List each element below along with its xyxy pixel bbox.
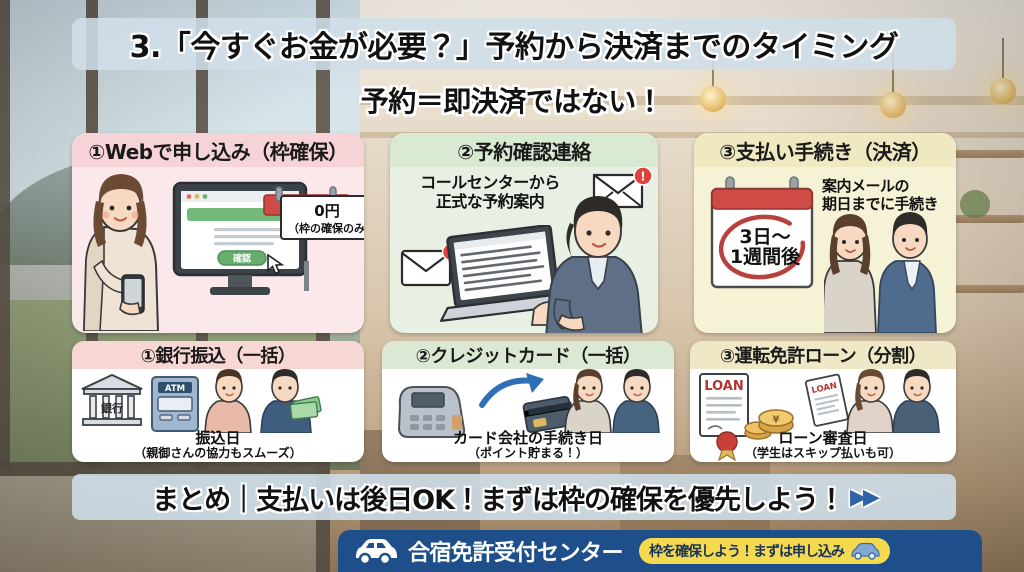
method-2-caption: カード会社の手続き日 （ポイント貯まる！） — [382, 430, 674, 460]
cta-text: 枠を確保しよう！まずは申し込み — [649, 541, 844, 561]
loan-document-label: LOAN — [704, 379, 743, 394]
step-panel-2: ②予約確認連絡 コールセンターから 正式な予約案内 ! ! — [390, 133, 658, 333]
step-1-heading: ①Webで申し込み（枠確保） — [72, 133, 364, 167]
brand-name: 合宿免許受付センター — [408, 535, 623, 567]
method-3-body: LOAN ¥ — [690, 369, 956, 462]
bank-label: 銀行 — [100, 401, 123, 415]
person-icon — [892, 369, 950, 433]
bank-icon: 銀行 — [78, 371, 148, 429]
infographic-slide: 3.「今すぐお金が必要？」予約から決済までのタイミング 予約＝即決済ではない！ … — [0, 0, 1024, 572]
atm-icon: ATM — [144, 373, 206, 435]
calendar-duration-text: 3日〜 1週間後 — [704, 228, 826, 268]
page-title: 3.「今すぐお金が必要？」予約から決済までのタイミング — [130, 22, 899, 66]
method-1-body: 銀行 ATM — [72, 369, 364, 462]
method-3-caption: ローン審査日 （学生はスキップ払いも可） — [690, 430, 956, 460]
svg-text:!: ! — [640, 170, 645, 184]
method-panel-1: ①銀行振込（一括） 銀行 ATM — [72, 341, 364, 462]
price-callout: 0円 （枠の確保のみ） — [280, 195, 364, 240]
person-at-laptop-illustration — [538, 195, 658, 333]
method-2-heading: ②クレジットカード（一括） — [382, 341, 674, 369]
callout-note: （枠の確保のみ） — [288, 220, 364, 236]
method-3-heading: ③運転免許ローン（分割） — [690, 341, 956, 369]
couple-illustration — [824, 211, 952, 333]
atm-label: ATM — [165, 384, 185, 394]
svg-text:¥: ¥ — [773, 415, 780, 426]
cta-pill[interactable]: 枠を確保しよう！まずは申し込み — [639, 538, 890, 564]
person-icon — [204, 369, 264, 433]
method-panel-2: ②クレジットカード（一括） — [382, 341, 674, 462]
summary-bar: まとめ｜支払いは後日OK！まずは枠の確保を優先しよう！ ▶▶ — [72, 474, 956, 520]
title-band: 3.「今すぐお金が必要？」予約から決済までのタイミング — [72, 18, 956, 70]
page-subtitle: 予約＝即決済ではない！ — [0, 80, 1024, 120]
person-icon — [612, 369, 672, 433]
person-with-cash-icon — [258, 369, 328, 433]
method-panel-3: ③運転免許ローン（分割） LOAN ¥ — [690, 341, 956, 462]
car-icon-small — [850, 542, 880, 560]
step-panel-3: ③支払い手続き（決済） 案内メールの 期日までに手続き 3日〜 1週間後 — [694, 133, 956, 333]
method-2-body: カード会社の手続き日 （ポイント貯まる！） — [382, 369, 674, 462]
screen-confirm-button-label: 確認 — [232, 253, 251, 265]
step-3-subtext: 案内メールの 期日までに手続き — [822, 177, 954, 213]
step-3-heading: ③支払い手続き（決済） — [694, 133, 956, 167]
summary-text: まとめ｜支払いは後日OK！まずは枠の確保を優先しよう！ — [152, 478, 844, 517]
step-panel-1: ①Webで申し込み（枠確保） — [72, 133, 364, 333]
car-icon — [352, 537, 398, 565]
callout-amount: 0円 — [288, 199, 364, 220]
method-1-caption: 振込日 （親御さんの協力もスムーズ） — [72, 430, 364, 460]
footer-bar: 合宿免許受付センター 枠を確保しよう！まずは申し込み — [338, 530, 982, 572]
summary-arrows-icon: ▶▶ — [850, 485, 876, 510]
step-2-heading: ②予約確認連絡 — [390, 133, 658, 167]
method-1-heading: ①銀行振込（一括） — [72, 341, 364, 369]
